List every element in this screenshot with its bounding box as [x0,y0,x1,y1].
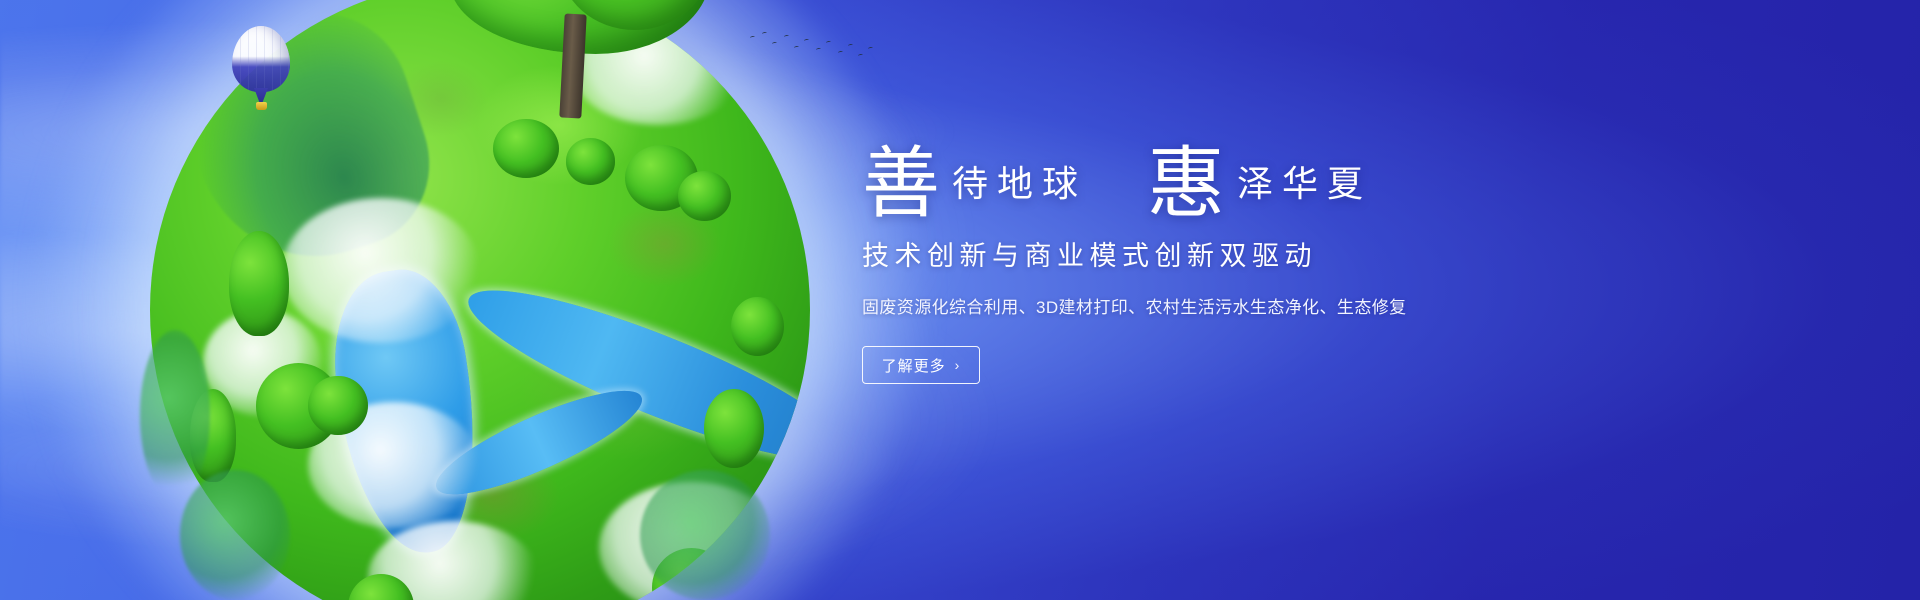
headline-part2-small: 泽华夏 [1237,166,1372,202]
hero-banner: 善 待地球 惠 泽华夏 技术创新与商业模式创新双驱动 固废资源化综合利用、3D建… [0,0,1920,600]
headline-part2-large: 惠 [1147,147,1225,220]
balloon-neck [254,88,268,102]
tree-icon [731,297,784,356]
page-title: 善 待地球 惠 泽华夏 [862,120,1842,216]
banner-content: 善 待地球 惠 泽华夏 技术创新与商业模式创新双驱动 固废资源化综合利用、3D建… [862,120,1842,384]
learn-more-button[interactable]: 了解更多 › [862,346,980,384]
tree-icon [308,376,367,435]
balloon-envelope [232,26,290,92]
learn-more-label: 了解更多 [882,355,946,376]
tree-icon [640,470,770,600]
tree-icon [566,138,616,184]
banner-description: 固废资源化综合利用、3D建材打印、农村生活污水生态净化、生态修复 [862,293,1842,318]
tree-icon [493,119,559,178]
banner-subtitle: 技术创新与商业模式创新双驱动 [862,234,1842,273]
tree-icon [229,231,288,337]
chevron-right-icon: › [955,358,961,372]
tree-icon [140,330,210,500]
tree-icon [704,389,763,468]
cloud-icon [282,198,480,343]
headline-part1-small: 待地球 [952,166,1087,202]
balloon-basket [256,102,267,110]
headline-part1-large: 善 [862,147,940,220]
cloud-icon [572,13,744,125]
hot-air-balloon-icon [232,26,294,118]
tree-icon [180,470,290,600]
birds-icon [746,30,876,70]
tree-icon [678,171,731,221]
